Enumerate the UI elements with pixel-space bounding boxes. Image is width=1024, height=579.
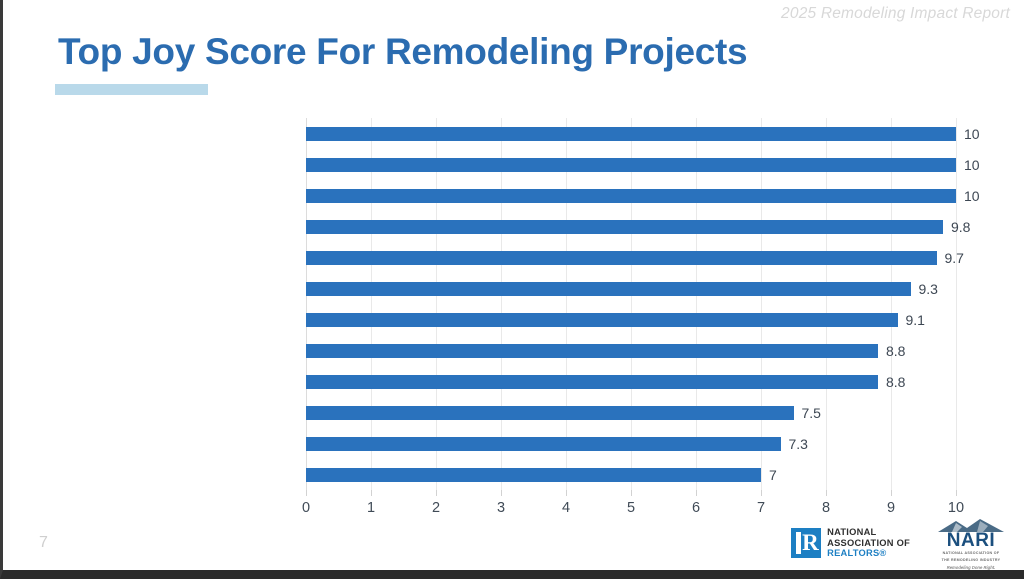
slide-canvas: 2025 Remodeling Impact Report Top Joy Sc… (0, 0, 1024, 579)
chart-bar (306, 437, 781, 451)
chart-bar (306, 406, 794, 420)
x-axis-tick-label: 4 (546, 500, 586, 516)
chart-bar (306, 313, 898, 327)
chart-bar (306, 127, 956, 141)
chart-row: New Roofing10 (306, 180, 956, 211)
x-axis-tick-label: 8 (806, 500, 846, 516)
page-title: Top Joy Score For Remodeling Projects (58, 31, 747, 73)
title-underline-rule (55, 84, 208, 95)
chart-row: Paint 1 Interior Room9.3 (306, 273, 956, 304)
x-axis-tick (566, 490, 567, 496)
x-axis-tick (631, 490, 632, 496)
chart-bar (306, 468, 761, 482)
nar-logo: NATIONAL ASSOCIATION OF REALTORS® (791, 527, 910, 558)
joy-score-bar-chart: 012345678910Added Primary Bedroom Suite1… (3, 110, 1024, 510)
chart-bar (306, 189, 956, 203)
bar-value-label: 7.3 (789, 436, 808, 452)
nari-wordmark: NARI (936, 531, 1006, 550)
nari-tagline: Remodeling Done Right. (936, 565, 1006, 570)
x-axis-tick-label: 0 (286, 500, 326, 516)
chart-bar (306, 344, 878, 358)
x-axis-tick (306, 490, 307, 496)
bar-value-label: 9.7 (945, 250, 964, 266)
nar-r-mark-icon (791, 528, 821, 558)
x-axis-tick (371, 490, 372, 496)
page-number: 7 (39, 534, 48, 552)
x-axis-tick-label: 6 (676, 500, 716, 516)
nari-logo: NARI NATIONAL ASSOCIATION OF THE REMODEL… (936, 516, 1006, 569)
bar-value-label: 9.8 (951, 219, 970, 235)
x-axis-tick (436, 490, 437, 496)
chart-bar (306, 251, 937, 265)
x-axis-tick-label: 10 (936, 500, 976, 516)
x-axis-tick-label: 1 (351, 500, 391, 516)
x-axis-tick (826, 490, 827, 496)
x-axis-tick-label: 2 (416, 500, 456, 516)
chart-row: Added Primary Bedroom Suite10 (306, 118, 956, 149)
bar-value-label: 8.8 (886, 343, 905, 359)
bar-value-label: 10 (964, 126, 980, 142)
x-axis-tick-label: 7 (741, 500, 781, 516)
chart-plot-area: 012345678910Added Primary Bedroom Suite1… (306, 118, 956, 490)
footer-logos: NATIONAL ASSOCIATION OF REALTORS® NARI N… (791, 519, 1006, 567)
chart-bar (306, 220, 943, 234)
chart-row: Paint Exeterior Siding8.8 (306, 366, 956, 397)
bar-value-label: 10 (964, 157, 980, 173)
x-axis-tick (696, 490, 697, 496)
chart-row: New Wood Flooring9.1 (306, 304, 956, 335)
chart-bar (306, 158, 956, 172)
bar-value-label: 8.8 (886, 374, 905, 390)
bar-value-label: 7 (769, 467, 777, 483)
x-gridline (956, 118, 957, 490)
bar-value-label: 10 (964, 188, 980, 204)
chart-row: Bathroom Renovation9.8 (306, 211, 956, 242)
x-axis-tick (761, 490, 762, 496)
report-label: 2025 Remodeling Impact Report (781, 5, 1010, 23)
nar-logo-line1: NATIONAL (827, 527, 910, 537)
nar-logo-text: NATIONAL ASSOCIATION OF REALTORS® (827, 527, 910, 558)
nari-sub-line2: THE REMODELING INDUSTRY (936, 558, 1006, 563)
chart-bar (306, 282, 911, 296)
bar-value-label: 9.1 (906, 312, 925, 328)
nar-logo-line2: ASSOCIATION OF (827, 538, 910, 548)
x-axis-tick (891, 490, 892, 496)
chart-row: Basement Conversion to Living Area8.8 (306, 335, 956, 366)
chart-bar (306, 375, 878, 389)
chart-row: Complete Kitchen Renovation9.7 (306, 242, 956, 273)
bar-value-label: 7.5 (802, 405, 821, 421)
nar-logo-line3: REALTORS® (827, 548, 910, 558)
x-axis-tick-label: 5 (611, 500, 651, 516)
chart-row: New Front Door7.5 (306, 397, 956, 428)
x-axis-tick-label: 9 (871, 500, 911, 516)
chart-row: Kitchen Upgrade10 (306, 149, 956, 180)
chart-row: New Siding7.3 (306, 428, 956, 459)
x-axis-tick (956, 490, 957, 496)
x-axis-tick-label: 3 (481, 500, 521, 516)
nari-sub-line1: NATIONAL ASSOCIATION OF (936, 551, 1006, 556)
bar-value-label: 9.3 (919, 281, 938, 297)
x-axis-tick (501, 490, 502, 496)
chart-row: Garage Door7 (306, 459, 956, 490)
